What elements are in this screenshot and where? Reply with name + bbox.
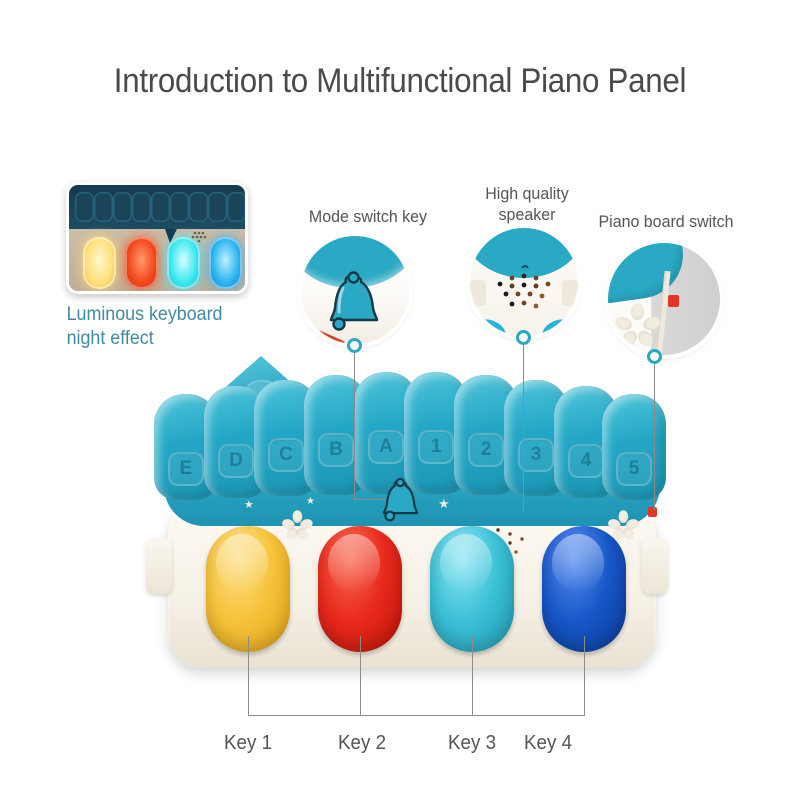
power-switch-icon	[668, 295, 679, 307]
speaker-holes-icon	[470, 228, 578, 336]
hood-button-label: 5	[616, 452, 652, 486]
key-gloss	[440, 534, 492, 592]
toy-hinge-tab-right	[642, 538, 668, 594]
night-detail-overlay	[69, 185, 248, 294]
leader-line-key-3	[472, 636, 473, 716]
star-relief: ★	[244, 498, 254, 511]
callout-anchor-dot-speaker	[516, 330, 531, 345]
piano-toy-illustration: E D C B A 1 2 3 4	[120, 330, 690, 690]
leader-line-key-1	[248, 636, 249, 716]
leader-line-speaker	[523, 344, 524, 512]
hood-button: 5	[602, 394, 666, 500]
key-label-4: Key 4	[501, 733, 595, 754]
hood-button-label: C	[268, 438, 304, 472]
callout-circle-mode-switch	[301, 236, 409, 344]
luminous-night-thumbnail	[66, 182, 248, 294]
callout-circle-speaker	[470, 228, 578, 336]
callout-label-mode-switch: Mode switch key	[283, 206, 452, 227]
piano-key-1[interactable]	[206, 526, 290, 652]
callout-anchor-dot-board-switch	[647, 349, 662, 364]
key-gloss	[328, 534, 380, 592]
hood-button-label: 1	[418, 430, 454, 464]
key-gloss	[216, 534, 268, 592]
key-bracket-line	[248, 715, 585, 716]
hood-button-label: E	[168, 452, 204, 486]
page-title: Introduction to Multifunctional Piano Pa…	[32, 62, 768, 101]
flower-relief-right	[610, 510, 636, 536]
piano-key-2[interactable]	[318, 526, 402, 652]
hood-button-label: 2	[468, 433, 504, 467]
flower-relief-left	[284, 510, 310, 536]
star-relief: ★	[306, 496, 315, 507]
leader-line-mode-switch	[354, 352, 355, 500]
infographic-canvas: Introduction to Multifunctional Piano Pa…	[0, 0, 800, 800]
hood-button-label: D	[218, 444, 254, 478]
key-label-1: Key 1	[201, 733, 295, 754]
hood-button-label: 4	[568, 444, 604, 478]
red-switch-on-body	[648, 507, 657, 517]
leader-line-key-2	[360, 636, 361, 716]
callout-label-speaker: High quality speaker	[457, 183, 598, 225]
leader-line-key-4	[584, 636, 585, 716]
key-gloss	[552, 534, 604, 592]
piano-key-3[interactable]	[430, 526, 514, 652]
bell-icon	[301, 236, 409, 344]
bell-button-icon	[378, 476, 424, 522]
hood-button-label: A	[368, 430, 404, 464]
callout-anchor-dot-mode-switch	[347, 338, 362, 353]
star-relief: ★	[438, 496, 450, 512]
hood-button-label: B	[318, 433, 354, 467]
callout-label-board-switch: Piano board switch	[583, 211, 748, 232]
key-label-2: Key 2	[315, 733, 409, 754]
toy-hinge-tab-left	[146, 538, 172, 594]
piano-key-4[interactable]	[542, 526, 626, 652]
leader-line-board-switch	[654, 363, 655, 510]
